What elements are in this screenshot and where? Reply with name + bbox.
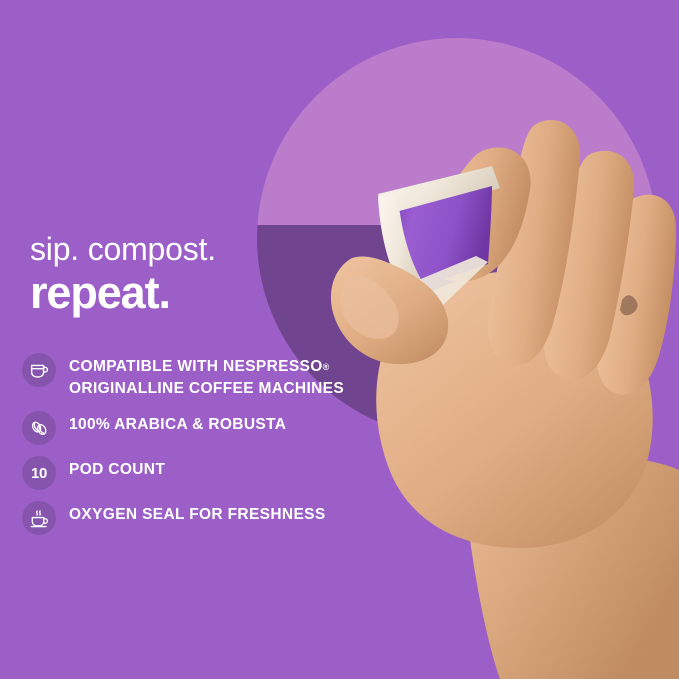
feature-label-pod-count: POD COUNT [69, 455, 165, 481]
feature-row-oxygen-seal: OXYGEN SEAL FOR FRESHNESS [22, 500, 422, 535]
feature-label-compatibility: COMPATIBLE WITH NESPRESSO® ORIGINALLINE … [69, 352, 422, 400]
coffee-beans-icon [22, 411, 56, 445]
feature-list: COMPATIBLE WITH NESPRESSO® ORIGINALLINE … [22, 352, 422, 535]
feature-label-bean-blend: 100% ARABICA & ROBUSTA [69, 410, 286, 436]
feature-row-pod-count: 10 POD COUNT [22, 455, 422, 490]
registered-trademark-symbol: ® [323, 362, 330, 372]
pod-count-badge: 10 [22, 456, 56, 490]
feature-label-oxygen-seal: OXYGEN SEAL FOR FRESHNESS [69, 500, 326, 526]
headline-line-1: sip. compost. [30, 232, 216, 268]
feature-label-compatibility-suffix: ORIGINALLINE COFFEE MACHINES [69, 380, 344, 397]
headline: sip. compost. repeat. [30, 232, 216, 316]
feature-row-bean-blend: 100% ARABICA & ROBUSTA [22, 410, 422, 445]
circle-top-half [257, 38, 657, 225]
pod-count-value: 10 [31, 466, 47, 481]
product-feature-banner: sip. compost. repeat. COMPATIBLE WITH NE… [0, 0, 679, 679]
feature-label-compatibility-prefix: COMPATIBLE WITH NESPRESSO [69, 358, 323, 375]
coffee-cup-icon [22, 353, 56, 387]
headline-line-2: repeat. [30, 270, 216, 316]
wrist [462, 455, 679, 679]
feature-row-compatibility: COMPATIBLE WITH NESPRESSO® ORIGINALLINE … [22, 352, 422, 400]
steaming-cup-icon [22, 501, 56, 535]
